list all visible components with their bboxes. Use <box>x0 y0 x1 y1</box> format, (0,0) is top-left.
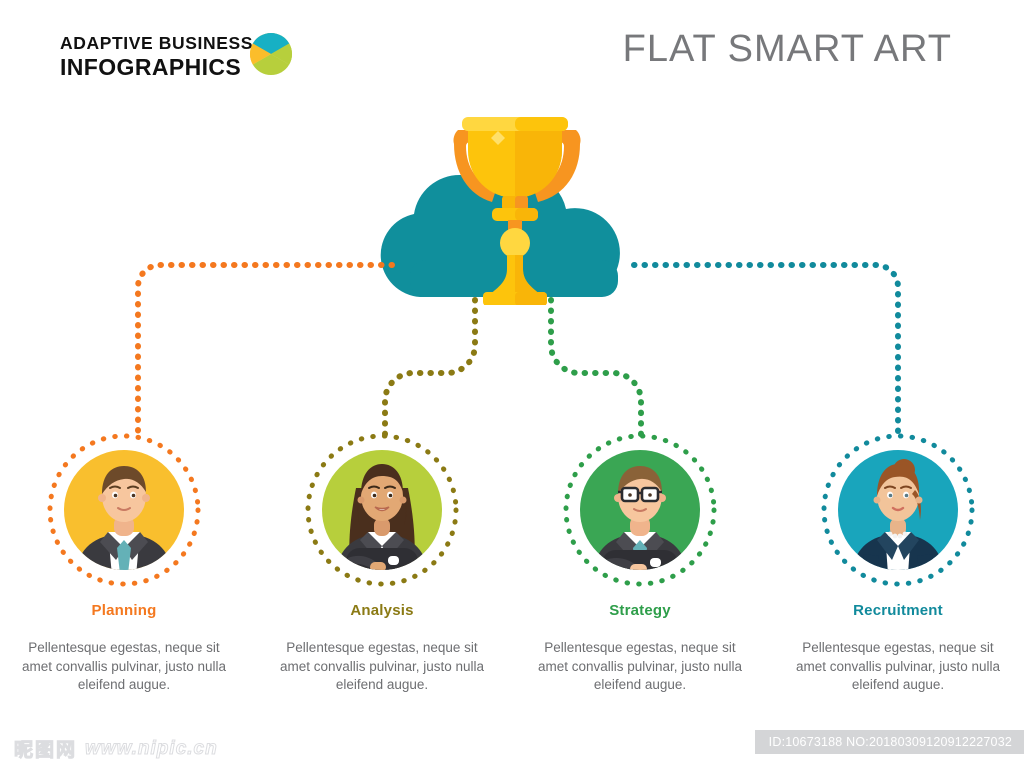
avatar-businessman-glasses-arms-crossed-icon <box>560 430 720 590</box>
connector-planning <box>138 265 392 440</box>
column-body-planning: Pellentesque egestas, neque sit amet con… <box>0 639 252 695</box>
column-body-recruitment: Pellentesque egestas, neque sit amet con… <box>770 639 1024 695</box>
connector-analysis <box>385 300 475 440</box>
hero-graphic <box>380 100 650 305</box>
column-title-recruitment: Recruitment <box>770 602 1024 619</box>
connector-recruitment <box>634 265 898 440</box>
avatar-businesswoman-arms-crossed-icon <box>302 430 462 590</box>
column-analysis[interactable]: Analysis Pellentesque egestas, neque sit… <box>254 430 510 695</box>
column-strategy[interactable]: Strategy Pellentesque egestas, neque sit… <box>512 430 768 695</box>
infographic-canvas: ADAPTIVE BUSINESS INFOGRAPHICS FLAT SMAR… <box>0 0 1024 769</box>
column-body-strategy: Pellentesque egestas, neque sit amet con… <box>512 639 768 695</box>
avatar-planning[interactable] <box>44 430 204 590</box>
watermark: 昵图网 www.nipic.cn <box>14 735 218 762</box>
column-planning[interactable]: Planning Pellentesque egestas, neque sit… <box>0 430 252 695</box>
page-title: FLAT SMART ART <box>623 28 952 71</box>
column-title-planning: Planning <box>0 602 252 619</box>
column-body-analysis: Pellentesque egestas, neque sit amet con… <box>254 639 510 695</box>
pie-chart-icon <box>248 31 294 77</box>
avatar-businessman-hands-on-hips-icon <box>44 430 204 590</box>
avatar-strategy[interactable] <box>560 430 720 590</box>
avatar-recruitment[interactable] <box>818 430 978 590</box>
connector-strategy <box>551 300 641 440</box>
watermark-cn-text: 昵图网 <box>14 735 77 762</box>
column-recruitment[interactable]: Recruitment Pellentesque egestas, neque … <box>770 430 1024 695</box>
column-title-strategy: Strategy <box>512 602 768 619</box>
column-title-analysis: Analysis <box>254 602 510 619</box>
image-id-bar: ID:10673188 NO:20180309120912227032 <box>755 730 1024 754</box>
watermark-url-text: www.nipic.cn <box>85 738 218 760</box>
avatar-analysis[interactable] <box>302 430 462 590</box>
avatar-businesswoman-hands-on-hips-icon <box>818 430 978 590</box>
